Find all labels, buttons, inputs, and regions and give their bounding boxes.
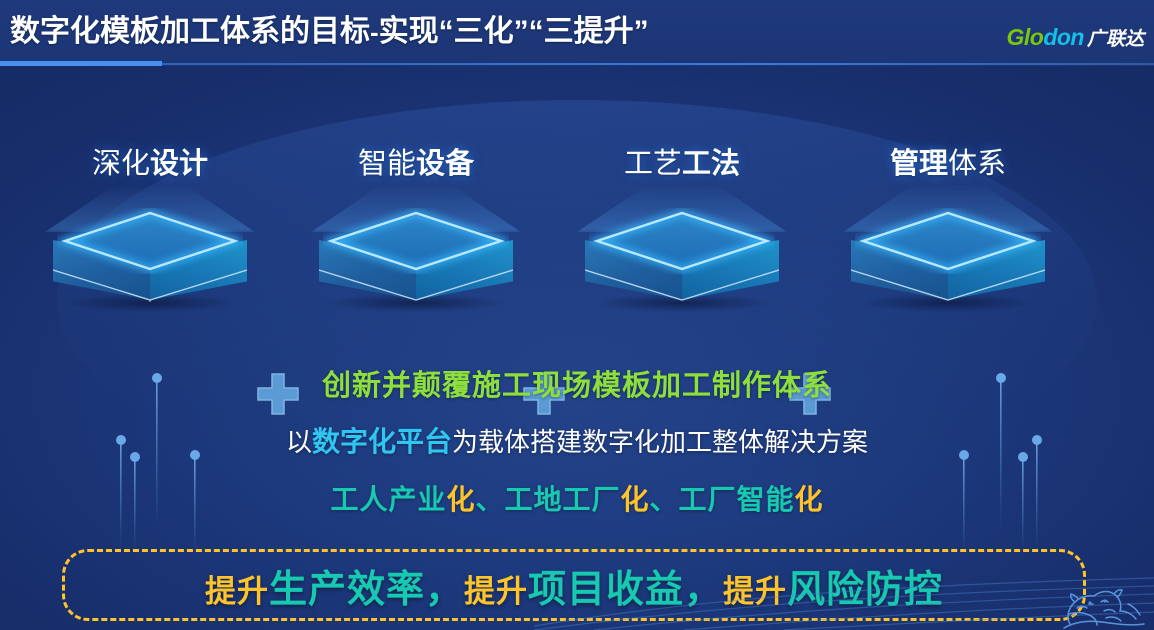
- cube-icon-3: [585, 210, 779, 306]
- cube-icon-4: [851, 210, 1045, 306]
- line3-segment-1: 工人产业: [330, 484, 446, 515]
- title-dash: -: [370, 17, 379, 47]
- statement-line-3: 工人产业化、工地工厂化、工厂智能化: [0, 478, 1154, 518]
- tiger-emblem-icon: [1044, 578, 1148, 630]
- line2-highlight: 数字化平台: [312, 426, 452, 457]
- pillar-label-4: 管理体系: [832, 140, 1064, 182]
- cube-glow-edge: [57, 208, 243, 274]
- cube-seam: [585, 268, 779, 302]
- pillar-label-3: 工艺工法: [566, 140, 798, 182]
- cube-glow-edge: [855, 208, 1041, 274]
- footer-comma-1: ，: [425, 569, 464, 611]
- footer-value-1: 生产效率: [269, 569, 425, 611]
- cube-seam: [851, 268, 1045, 302]
- title-tail: 实现“三化”“三提升”: [379, 15, 649, 48]
- statement-line-1: 创新并颠覆施工现场模板加工制作体系: [0, 362, 1154, 404]
- pillar-deepening-design[interactable]: 深化设计: [34, 140, 266, 300]
- footer-prefix-2: 提升: [464, 574, 528, 609]
- cube-glow-edge: [323, 208, 509, 274]
- pillar-management-system[interactable]: 管理体系: [832, 140, 1064, 300]
- statement-line-2: 以数字化平台为载体搭建数字化加工整体解决方案: [0, 420, 1154, 460]
- line3-highlight-2: 化: [621, 484, 650, 515]
- header-divider-rule: [162, 63, 1154, 65]
- logo-text-don: don: [1043, 24, 1084, 51]
- line3-separator-1: 、: [475, 484, 504, 515]
- cube-icon-1: [53, 210, 247, 306]
- cube-seam: [53, 268, 247, 302]
- header-accent-rule: [0, 61, 162, 66]
- cube-glow-edge: [589, 208, 775, 274]
- pillar-label-1: 深化设计: [34, 140, 266, 182]
- cube-icon-2: [319, 210, 513, 306]
- line3-separator-2: 、: [650, 484, 679, 515]
- line3-highlight-3: 化: [795, 484, 824, 515]
- line3-segment-3: 工厂智能: [679, 484, 795, 515]
- pillar-process-method[interactable]: 工艺工法: [566, 140, 798, 300]
- cube-seam: [319, 268, 513, 302]
- line2-suffix: 为载体搭建数字化加工整体解决方案: [452, 427, 868, 457]
- decorative-stems: [0, 0, 1154, 630]
- line2-prefix: 以: [286, 427, 312, 457]
- pillar-smart-equipment[interactable]: 智能设备: [300, 140, 532, 300]
- logo-text-cn: 广联达: [1087, 24, 1144, 51]
- logo-text-glo: Glo: [1006, 24, 1043, 51]
- title-main: 数字化模板加工体系的目标: [10, 15, 370, 48]
- slide-header: 数字化模板加工体系的目标-实现“三化”“三提升” Glodon广联达: [0, 0, 1154, 66]
- slide-root: 数字化模板加工体系的目标-实现“三化”“三提升” Glodon广联达 深化设计: [0, 0, 1154, 630]
- pillar-label-2: 智能设备: [300, 140, 532, 182]
- glodon-logo: Glodon广联达: [1006, 24, 1144, 50]
- statements-block: 创新并颠覆施工现场模板加工制作体系 以数字化平台为载体搭建数字化加工整体解决方案…: [0, 362, 1154, 518]
- line3-highlight-1: 化: [446, 484, 475, 515]
- pillars-row: 深化设计 智能设备: [0, 140, 1154, 300]
- footer-prefix-1: 提升: [205, 574, 269, 609]
- page-title: 数字化模板加工体系的目标-实现“三化”“三提升”: [10, 6, 649, 50]
- line3-segment-2: 工地工厂: [504, 484, 620, 515]
